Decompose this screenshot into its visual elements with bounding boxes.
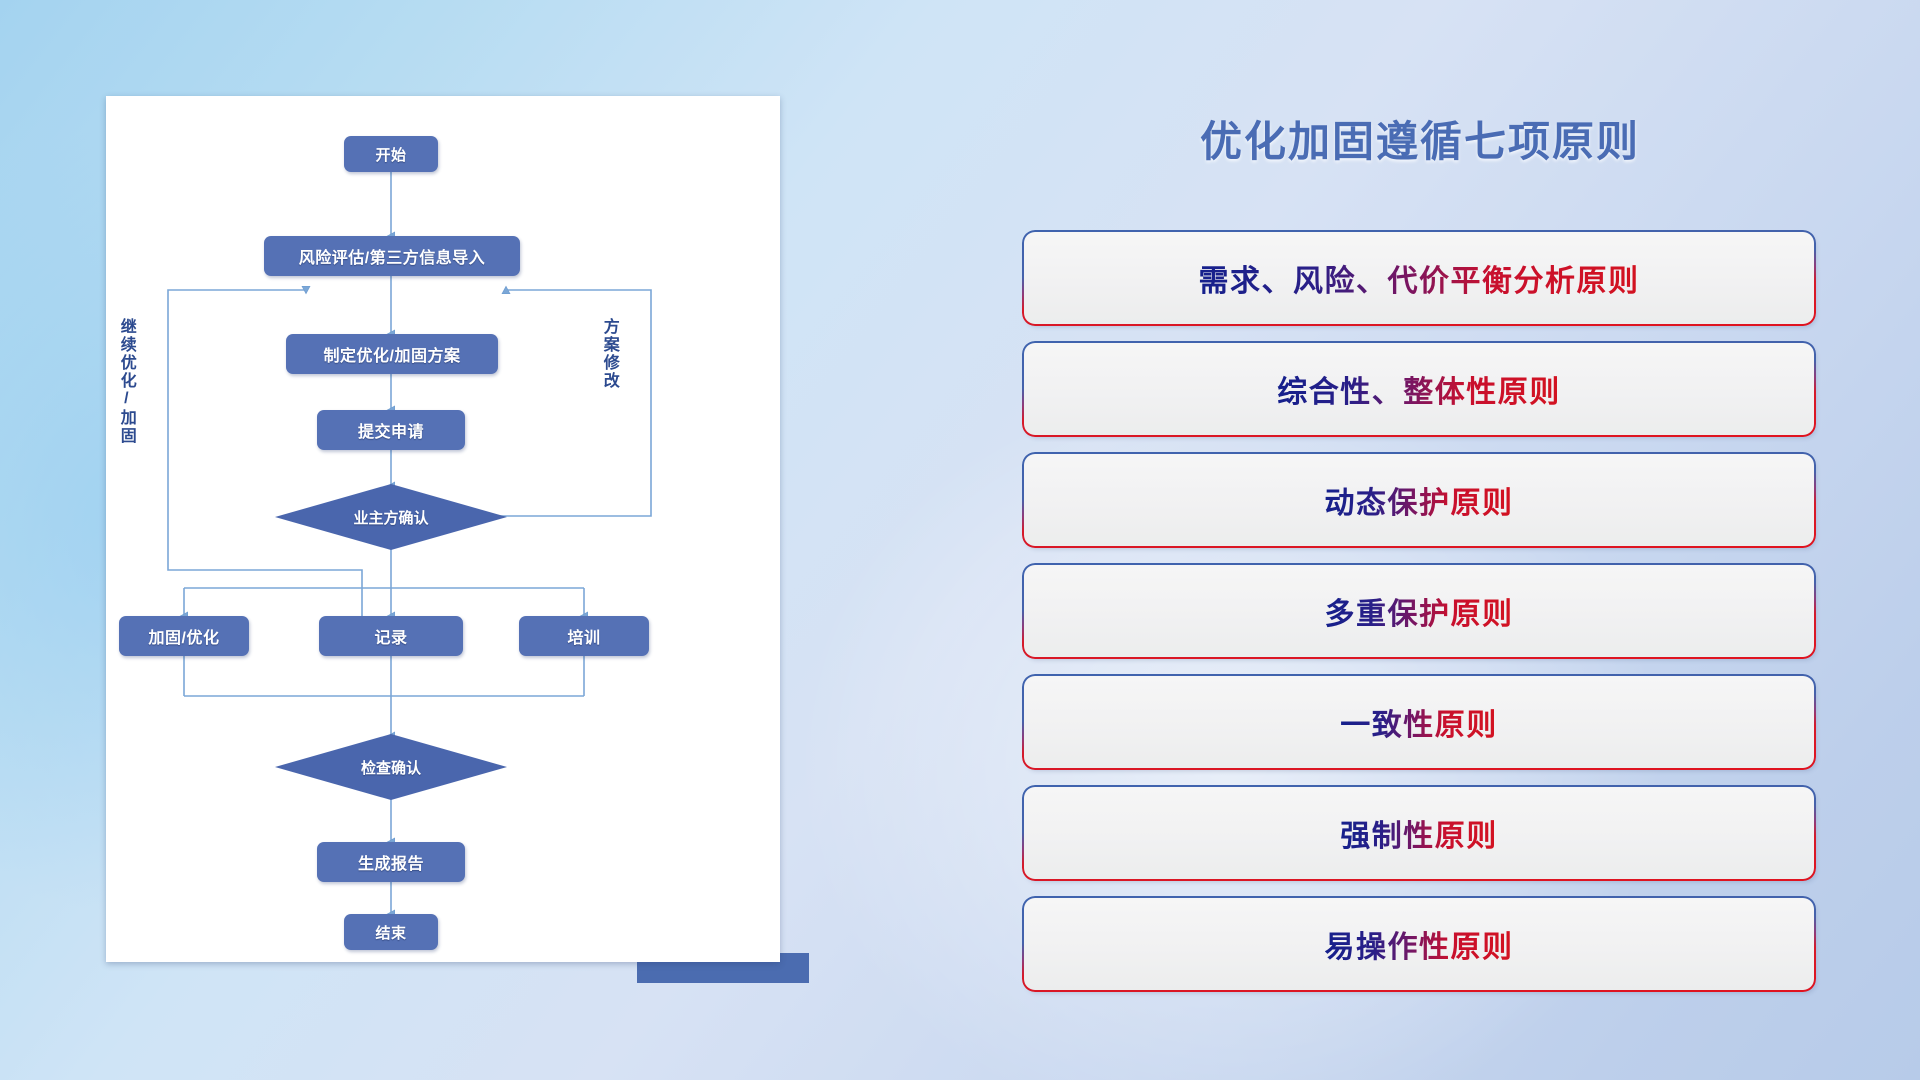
principle-card[interactable]: 需求、风险、代价平衡分析原则 bbox=[1024, 232, 1814, 324]
flow-edge-label-continue-optimize: 继续优化/加固 bbox=[117, 318, 134, 445]
principle-card[interactable]: 一致性原则 bbox=[1024, 676, 1814, 768]
flow-node-label: 风险评估/第三方信息导入 bbox=[299, 244, 485, 268]
principle-label: 需求、风险、代价平衡分析原则 bbox=[1199, 256, 1640, 300]
flow-node-label: 生成报告 bbox=[358, 850, 424, 874]
flow-node-reinforce[interactable]: 加固/优化 bbox=[119, 616, 249, 656]
principle-card[interactable]: 综合性、整体性原则 bbox=[1024, 343, 1814, 435]
flow-node-label: 业主方确认 bbox=[353, 507, 428, 528]
flow-edge-label-revise-plan: 方案修改 bbox=[600, 318, 617, 390]
flow-node-end[interactable]: 结束 bbox=[344, 914, 438, 950]
slide-canvas: 开始 风险评估/第三方信息导入 制定优化/加固方案 提交申请 业主方确认 加固/… bbox=[0, 0, 1920, 1080]
principle-label: 易操作性原则 bbox=[1325, 922, 1514, 966]
principle-card[interactable]: 动态保护原则 bbox=[1024, 454, 1814, 546]
flow-node-plan[interactable]: 制定优化/加固方案 bbox=[286, 334, 498, 374]
flow-node-start[interactable]: 开始 bbox=[344, 136, 438, 172]
flow-node-label: 记录 bbox=[374, 624, 407, 648]
principle-label: 多重保护原则 bbox=[1325, 589, 1514, 633]
principle-label: 综合性、整体性原则 bbox=[1277, 367, 1561, 411]
principle-card[interactable]: 易操作性原则 bbox=[1024, 898, 1814, 990]
flow-node-label: 结束 bbox=[375, 922, 406, 943]
panel-title: 优化加固遵循七项原则 bbox=[1020, 108, 1820, 169]
principles-list: 需求、风险、代价平衡分析原则 综合性、整体性原则 动态保护原则 多重保护原则 一… bbox=[1024, 232, 1814, 1009]
principle-label: 强制性原则 bbox=[1340, 811, 1498, 855]
flow-node-label: 开始 bbox=[375, 144, 406, 165]
flow-node-training[interactable]: 培训 bbox=[519, 616, 649, 656]
flow-node-label: 加固/优化 bbox=[149, 624, 220, 648]
principle-card[interactable]: 强制性原则 bbox=[1024, 787, 1814, 879]
flow-node-risk-assessment[interactable]: 风险评估/第三方信息导入 bbox=[264, 236, 520, 276]
flow-node-submit-application[interactable]: 提交申请 bbox=[317, 410, 465, 450]
flow-node-owner-confirm[interactable]: 业主方确认 bbox=[275, 484, 507, 550]
flow-node-label: 培训 bbox=[567, 624, 600, 648]
flow-node-label: 制定优化/加固方案 bbox=[324, 342, 461, 366]
principle-label: 一致性原则 bbox=[1340, 700, 1498, 744]
flow-node-check-confirm[interactable]: 检查确认 bbox=[275, 734, 507, 800]
flowchart-card: 开始 风险评估/第三方信息导入 制定优化/加固方案 提交申请 业主方确认 加固/… bbox=[106, 96, 780, 962]
principle-card[interactable]: 多重保护原则 bbox=[1024, 565, 1814, 657]
flow-node-record[interactable]: 记录 bbox=[319, 616, 463, 656]
flow-node-label: 提交申请 bbox=[358, 418, 424, 442]
flow-node-generate-report[interactable]: 生成报告 bbox=[317, 842, 465, 882]
flow-node-label: 检查确认 bbox=[361, 757, 421, 778]
principle-label: 动态保护原则 bbox=[1325, 478, 1514, 522]
